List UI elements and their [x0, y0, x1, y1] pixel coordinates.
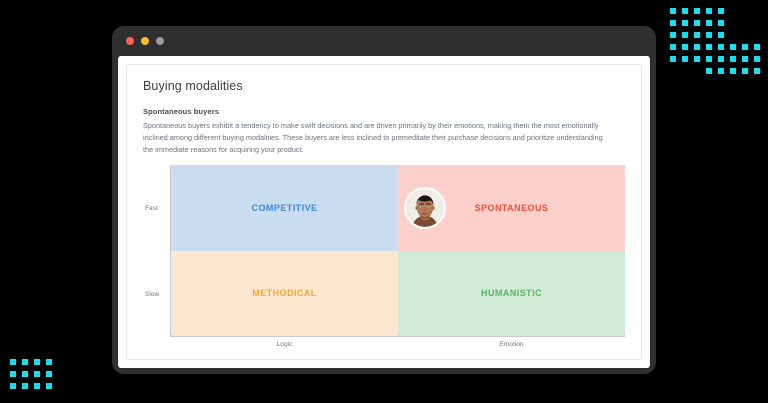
dot	[718, 20, 724, 26]
browser-viewport: Buying modalities Spontaneous buyers Spo…	[118, 56, 650, 368]
dot	[706, 68, 712, 74]
dot	[682, 8, 688, 14]
dot	[730, 56, 736, 62]
dot	[670, 32, 676, 38]
dot	[694, 8, 700, 14]
quadrant-humanistic[interactable]: HUMANISTIC	[398, 251, 625, 336]
quadrant-label: METHODICAL	[252, 288, 317, 298]
dot	[730, 44, 736, 50]
dot	[682, 56, 688, 62]
dot	[742, 56, 748, 62]
dot	[10, 383, 16, 389]
dot	[706, 44, 712, 50]
dot	[34, 383, 40, 389]
dot	[742, 44, 748, 50]
user-avatar-photo	[406, 189, 444, 227]
quadrant-spontaneous[interactable]: SPONTANEOUS	[398, 165, 625, 250]
dot	[706, 8, 712, 14]
dot	[754, 44, 760, 50]
dot	[10, 371, 16, 377]
quadrant-competitive[interactable]: COMPETITIVE	[171, 165, 398, 250]
dot	[706, 32, 712, 38]
quadrant-methodical[interactable]: METHODICAL	[171, 251, 398, 336]
dot	[718, 68, 724, 74]
dot	[718, 56, 724, 62]
window-titlebar	[112, 26, 656, 56]
quadrant-label: HUMANISTIC	[481, 288, 542, 298]
dot	[46, 383, 52, 389]
close-button[interactable]	[126, 37, 134, 45]
dot	[22, 383, 28, 389]
dot	[670, 56, 676, 62]
quadrant-label: SPONTANEOUS	[475, 203, 549, 213]
maximize-button[interactable]	[156, 37, 164, 45]
content-panel: Buying modalities Spontaneous buyers Spo…	[126, 64, 642, 360]
dot	[694, 56, 700, 62]
dot	[670, 44, 676, 50]
page-title: Buying modalities	[143, 79, 625, 93]
dot	[34, 359, 40, 365]
dot	[706, 56, 712, 62]
dot	[742, 68, 748, 74]
x-axis: Logic Emotion	[171, 337, 625, 351]
minimize-button[interactable]	[141, 37, 149, 45]
dot	[682, 20, 688, 26]
dot	[670, 8, 676, 14]
y-tick-label: Slow	[143, 291, 159, 298]
decorative-dots-top-right	[670, 8, 760, 74]
dot	[46, 371, 52, 377]
y-tick-fast: Fast	[143, 165, 170, 251]
section-body-text: Spontaneous buyers exhibit a tendency to…	[143, 120, 613, 155]
decorative-dots-bottom-left	[10, 359, 52, 389]
dot	[10, 359, 16, 365]
dot	[730, 68, 736, 74]
dot	[694, 32, 700, 38]
dot	[706, 20, 712, 26]
dot	[46, 359, 52, 365]
avatar	[404, 187, 446, 229]
x-tick-label: Logic	[277, 341, 293, 348]
dot	[22, 359, 28, 365]
dot	[682, 44, 688, 50]
dot	[718, 32, 724, 38]
y-tick-slow: Slow	[143, 251, 170, 337]
dot	[718, 44, 724, 50]
dot	[754, 56, 760, 62]
y-tick-label: Fast	[143, 205, 158, 212]
y-axis: Fast Slow	[143, 165, 171, 337]
dot	[754, 68, 760, 74]
dot	[670, 20, 676, 26]
dot	[22, 371, 28, 377]
browser-window: Buying modalities Spontaneous buyers Spo…	[112, 26, 656, 374]
x-tick-emotion: Emotion	[398, 337, 625, 351]
dot	[694, 44, 700, 50]
dot	[34, 371, 40, 377]
dot	[694, 20, 700, 26]
quadrant-grid: COMPETITIVE	[171, 165, 625, 337]
quadrant-label: COMPETITIVE	[252, 203, 318, 213]
x-tick-logic: Logic	[171, 337, 398, 351]
section-title: Spontaneous buyers	[143, 107, 625, 116]
buying-modalities-quadrant-chart: Fast Slow COMPETITIVE	[143, 165, 625, 351]
x-tick-label: Emotion	[499, 341, 523, 348]
dot	[718, 8, 724, 14]
dot	[682, 32, 688, 38]
